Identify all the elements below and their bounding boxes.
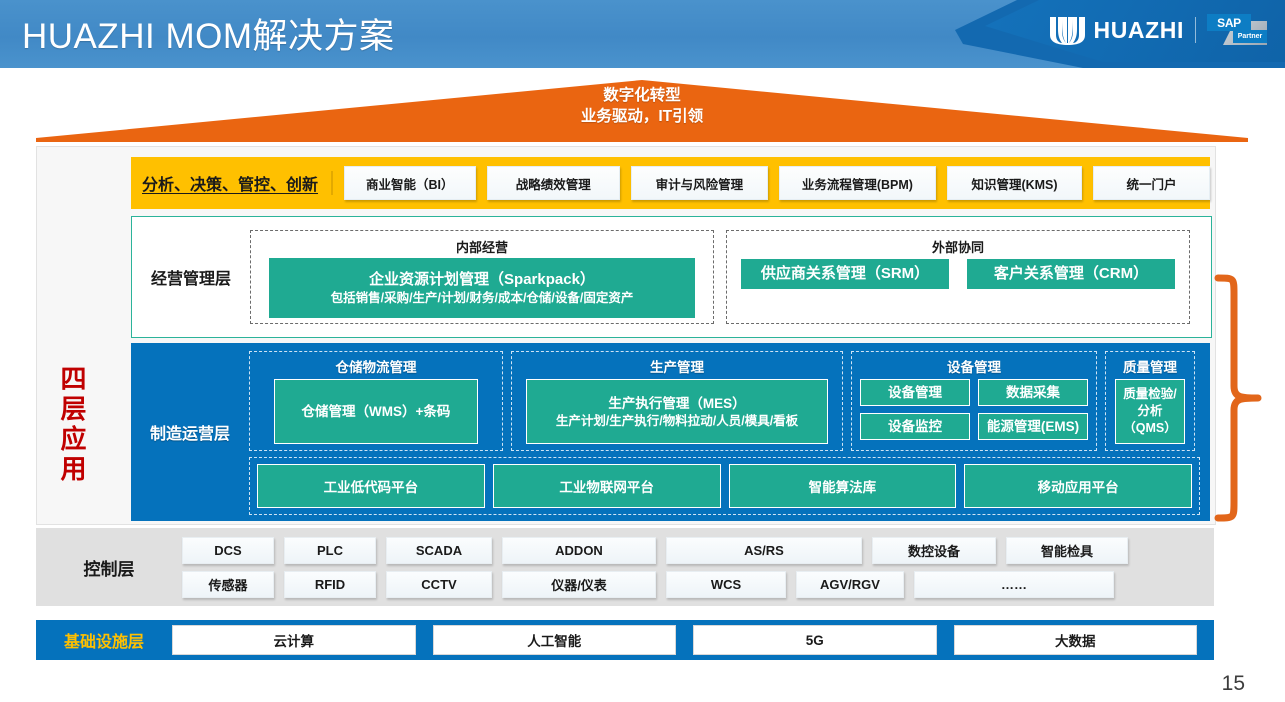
analysis-band: 分析、决策、管控、创新 商业智能（BI） 战略绩效管理 审计与风险管理 业务流程… bbox=[131, 157, 1210, 209]
business-management-layer: 经营管理层 内部经营 企业资源计划管理（Sparkpack） 包括销售/采购/生… bbox=[131, 216, 1212, 338]
production-management-group: 生产管理 生产执行管理（MES） 生产计划/生产执行/物料拉动/人员/模具/看板 bbox=[511, 351, 843, 451]
ems-box[interactable]: 能源管理(EMS) bbox=[978, 413, 1088, 440]
control-layer-row-1: DCS PLC SCADA ADDON AS/RS 数控设备 智能检具 bbox=[182, 537, 1204, 564]
manufacturing-groups-row: 仓储物流管理 仓储管理（WMS）+条码 生产管理 生产执行管理（MES） 生产计… bbox=[249, 351, 1200, 451]
chip-instruments[interactable]: 仪器/仪表 bbox=[502, 571, 656, 598]
control-layer: 控制层 DCS PLC SCADA ADDON AS/RS 数控设备 智能检具 … bbox=[36, 528, 1214, 606]
side-label-char-1: 层 bbox=[52, 394, 96, 424]
equipment-management-group: 设备管理 设备管理 数据采集 设备监控 能源管理(EMS) bbox=[851, 351, 1097, 451]
chip-kms[interactable]: 知识管理(KMS) bbox=[947, 166, 1082, 200]
production-management-title: 生产管理 bbox=[650, 356, 704, 376]
crm-label: 客户关系管理（CRM） bbox=[994, 264, 1148, 284]
chip-agv-rgv[interactable]: AGV/RGV bbox=[796, 571, 904, 598]
side-label-char-3: 用 bbox=[52, 454, 96, 484]
side-label-char-0: 四 bbox=[52, 364, 96, 394]
chip-addon[interactable]: ADDON bbox=[502, 537, 656, 564]
manufacturing-layer-label: 制造运营层 bbox=[131, 343, 249, 521]
crm-box[interactable]: 客户关系管理（CRM） bbox=[967, 259, 1175, 289]
srm-box[interactable]: 供应商关系管理（SRM） bbox=[741, 259, 949, 289]
manufacturing-operations-layer: 制造运营层 仓储物流管理 仓储管理（WMS）+条码 生产管理 生产执行管理（ME… bbox=[131, 343, 1210, 521]
chip-cnc-equipment[interactable]: 数控设备 bbox=[872, 537, 996, 564]
low-code-platform-box[interactable]: 工业低代码平台 bbox=[257, 464, 485, 508]
external-collaboration-group: 外部协同 供应商关系管理（SRM） 客户关系管理（CRM） bbox=[726, 230, 1190, 324]
business-layer-label: 经营管理层 bbox=[132, 265, 250, 289]
ems-label: 能源管理(EMS) bbox=[987, 417, 1079, 436]
equipment-monitor-box[interactable]: 设备监控 bbox=[860, 413, 970, 440]
external-collaboration-title: 外部协同 bbox=[932, 237, 984, 256]
chip-more[interactable]: …… bbox=[914, 571, 1114, 598]
chip-big-data[interactable]: 大数据 bbox=[954, 625, 1198, 655]
chip-scada[interactable]: SCADA bbox=[386, 537, 492, 564]
mes-box[interactable]: 生产执行管理（MES） 生产计划/生产执行/物料拉动/人员/模具/看板 bbox=[526, 379, 828, 444]
mes-label: 生产执行管理（MES） bbox=[608, 394, 745, 413]
control-layer-grid: DCS PLC SCADA ADDON AS/RS 数控设备 智能检具 传感器 … bbox=[182, 537, 1214, 598]
algorithm-library-box[interactable]: 智能算法库 bbox=[729, 464, 957, 508]
roof-line-2: 业务驱动，IT引领 bbox=[36, 106, 1248, 127]
data-collection-label: 数据采集 bbox=[1006, 383, 1060, 402]
warehouse-logistics-title: 仓储物流管理 bbox=[336, 356, 417, 376]
wms-box[interactable]: 仓储管理（WMS）+条码 bbox=[274, 379, 478, 444]
chip-wcs[interactable]: WCS bbox=[666, 571, 786, 598]
page-header: HUAZHI MOM解决方案 HUAZHI SAP Partner bbox=[0, 0, 1285, 68]
logo-divider bbox=[1195, 17, 1196, 43]
internal-operations-title: 内部经营 bbox=[456, 237, 508, 256]
chip-dcs[interactable]: DCS bbox=[182, 537, 274, 564]
four-layer-side-label: 四 层 应 用 bbox=[52, 364, 96, 484]
control-layer-label: 控制层 bbox=[36, 555, 182, 580]
chip-5g[interactable]: 5G bbox=[693, 625, 937, 655]
equipment-monitor-label: 设备监控 bbox=[888, 417, 942, 436]
orange-bracket-icon bbox=[1212, 272, 1272, 524]
chip-bpm[interactable]: 业务流程管理(BPM) bbox=[779, 166, 936, 200]
chip-asrs[interactable]: AS/RS bbox=[666, 537, 862, 564]
chip-strategy-performance[interactable]: 战略绩效管理 bbox=[487, 166, 620, 200]
equipment-management-title: 设备管理 bbox=[947, 356, 1001, 376]
chip-rfid[interactable]: RFID bbox=[284, 571, 376, 598]
equipment-mgmt-label: 设备管理 bbox=[888, 383, 942, 402]
chip-portal[interactable]: 统一门户 bbox=[1093, 166, 1210, 200]
chip-smart-gauge[interactable]: 智能检具 bbox=[1006, 537, 1128, 564]
roof-line-1: 数字化转型 bbox=[36, 85, 1248, 106]
logo-wordmark: HUAZHI bbox=[1094, 15, 1184, 45]
mobile-app-platform-box[interactable]: 移动应用平台 bbox=[964, 464, 1192, 508]
sap-partner-badge: SAP Partner bbox=[1207, 14, 1267, 46]
iiot-platform-box[interactable]: 工业物联网平台 bbox=[493, 464, 721, 508]
chip-cctv[interactable]: CCTV bbox=[386, 571, 492, 598]
infrastructure-layer: 基础设施层 云计算 人工智能 5G 大数据 bbox=[36, 620, 1214, 660]
internal-operations-group: 内部经营 企业资源计划管理（Sparkpack） 包括销售/采购/生产/计划/财… bbox=[250, 230, 714, 324]
infrastructure-layer-label: 基础设施层 bbox=[36, 628, 172, 652]
warehouse-logistics-group: 仓储物流管理 仓储管理（WMS）+条码 bbox=[249, 351, 503, 451]
erp-title: 企业资源计划管理（Sparkpack） bbox=[369, 270, 595, 290]
qms-label: 质量检验/分析（QMS） bbox=[1119, 386, 1181, 437]
brand-logo: HUAZHI SAP Partner bbox=[1048, 14, 1267, 46]
chip-sensor[interactable]: 传感器 bbox=[182, 571, 274, 598]
srm-label: 供应商关系管理（SRM） bbox=[761, 264, 929, 284]
erp-sparkpack-box[interactable]: 企业资源计划管理（Sparkpack） 包括销售/采购/生产/计划/财务/成本/… bbox=[269, 258, 695, 318]
chip-ai[interactable]: 人工智能 bbox=[433, 625, 677, 655]
qms-box[interactable]: 质量检验/分析（QMS） bbox=[1115, 379, 1185, 444]
sap-badge-label: SAP bbox=[1207, 14, 1251, 31]
quality-management-title: 质量管理 bbox=[1123, 356, 1177, 376]
erp-subtitle: 包括销售/采购/生产/计划/财务/成本/仓储/设备/固定资产 bbox=[331, 290, 634, 307]
chip-bi[interactable]: 商业智能（BI） bbox=[344, 166, 476, 200]
data-collection-box[interactable]: 数据采集 bbox=[978, 379, 1088, 406]
page-number: 15 bbox=[1222, 672, 1245, 696]
quality-management-group: 质量管理 质量检验/分析（QMS） bbox=[1105, 351, 1195, 451]
chip-plc[interactable]: PLC bbox=[284, 537, 376, 564]
equipment-mgmt-box[interactable]: 设备管理 bbox=[860, 379, 970, 406]
digital-transformation-roof: 数字化转型 业务驱动，IT引领 bbox=[36, 80, 1248, 142]
control-layer-row-2: 传感器 RFID CCTV 仪器/仪表 WCS AGV/RGV …… bbox=[182, 571, 1204, 598]
page-title: HUAZHI MOM解决方案 bbox=[22, 8, 395, 59]
chip-cloud-computing[interactable]: 云计算 bbox=[172, 625, 416, 655]
mes-sublabel: 生产计划/生产执行/物料拉动/人员/模具/看板 bbox=[556, 413, 798, 430]
platform-row: 工业低代码平台 工业物联网平台 智能算法库 移动应用平台 bbox=[249, 457, 1200, 515]
sap-partner-label: Partner bbox=[1233, 30, 1267, 43]
chip-audit-risk[interactable]: 审计与风险管理 bbox=[631, 166, 768, 200]
side-label-char-2: 应 bbox=[52, 424, 96, 454]
wms-label: 仓储管理（WMS）+条码 bbox=[302, 402, 451, 421]
analysis-band-label: 分析、决策、管控、创新 bbox=[142, 171, 333, 195]
huazhi-logo-icon bbox=[1048, 15, 1088, 45]
manufacturing-layer-content: 仓储物流管理 仓储管理（WMS）+条码 生产管理 生产执行管理（MES） 生产计… bbox=[249, 343, 1210, 521]
roof-text: 数字化转型 业务驱动，IT引领 bbox=[36, 85, 1248, 127]
